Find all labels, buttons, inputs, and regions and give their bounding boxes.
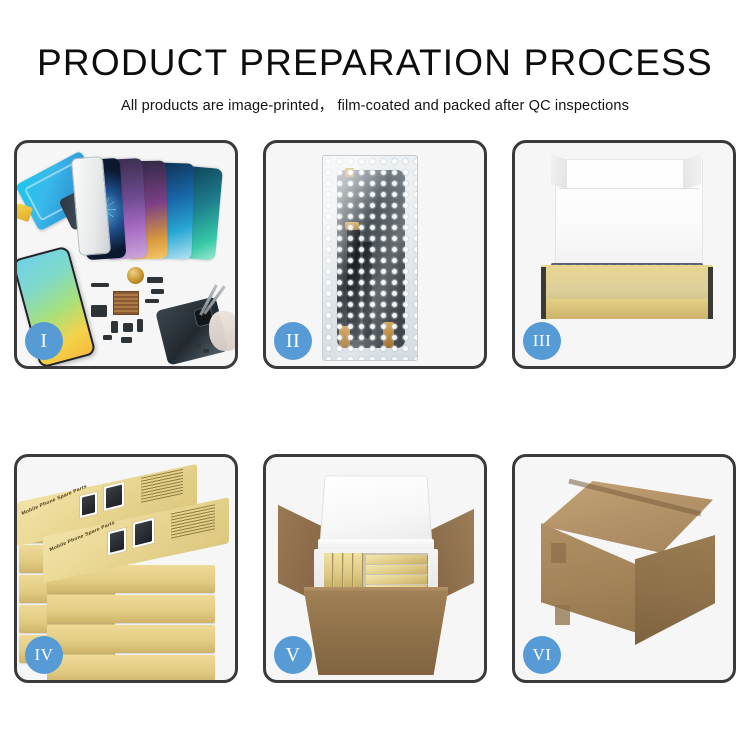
step-badge-5: V	[274, 636, 312, 674]
process-step-panel-2[interactable]: II	[263, 140, 487, 369]
lid-flap-right-icon	[683, 154, 701, 190]
carton-tape-patch	[555, 605, 570, 625]
foam-lid-icon	[319, 475, 432, 548]
retail-box-label-text: Mobile Phone Spare Parts	[21, 484, 87, 517]
part-chip	[137, 319, 143, 332]
retail-box-thumbnail	[79, 491, 98, 520]
retail-box-thumbnail	[132, 517, 155, 550]
retail-box-in-foam	[366, 575, 428, 584]
retail-box	[47, 595, 215, 623]
retail-box	[47, 625, 215, 653]
carton-right-face	[635, 535, 715, 645]
part-chip	[91, 305, 107, 317]
step-badge-4: IV	[25, 636, 63, 674]
step-badge-6: VI	[523, 636, 561, 674]
step-badge-2: II	[274, 322, 312, 360]
retail-box-in-foam	[366, 555, 428, 564]
hand-icon	[209, 311, 235, 351]
retail-box-thumbnail	[107, 527, 127, 557]
part-chip	[121, 337, 132, 343]
part-chip	[193, 343, 201, 347]
process-step-panel-4[interactable]: Mobile Phone Spare Parts Mobile Phone Sp…	[14, 454, 238, 683]
part-chip	[123, 323, 133, 332]
retail-box-spec-lines	[171, 504, 215, 540]
part-chip	[203, 349, 209, 353]
process-step-panel-3[interactable]: III	[512, 140, 736, 369]
part-chip	[103, 335, 112, 340]
retail-box	[47, 655, 215, 680]
carton-tape-patch	[551, 543, 566, 563]
lid-crease-line	[559, 188, 699, 189]
part-chip	[147, 277, 163, 283]
plastic-gloss-overlay	[323, 156, 417, 360]
process-step-grid: I II	[14, 140, 736, 683]
retail-box-in-foam	[366, 565, 428, 574]
lid-flap-left-icon	[551, 154, 567, 189]
process-step-panel-1[interactable]: I	[14, 140, 238, 369]
bubble-wrap-bag-icon	[322, 155, 418, 361]
page-title: PRODUCT PREPARATION PROCESS	[0, 44, 750, 81]
part-chip	[111, 321, 118, 333]
white-foam-lid-icon	[555, 159, 703, 275]
tray-edge-left	[541, 267, 546, 319]
copper-coil-icon	[127, 267, 144, 284]
kraft-tray-front-icon	[541, 299, 713, 319]
step-badge-3: III	[523, 322, 561, 360]
step-badge-1: I	[25, 322, 63, 360]
process-step-panel-6[interactable]: VI	[512, 454, 736, 683]
part-chip	[145, 299, 159, 303]
process-step-panel-5[interactable]: V	[263, 454, 487, 683]
page-subtitle: All products are image-printed， film-coa…	[0, 94, 750, 115]
header: PRODUCT PREPARATION PROCESS All products…	[0, 0, 750, 115]
tray-edge-right	[708, 267, 713, 319]
part-chip	[91, 283, 109, 287]
spare-parts-cluster	[91, 265, 235, 366]
retail-box-spec-lines	[141, 469, 183, 504]
carton-body-icon	[304, 591, 448, 675]
retail-box-thumbnail	[103, 481, 125, 512]
circuit-board-icon	[113, 291, 139, 315]
product-preparation-infographic: PRODUCT PREPARATION PROCESS All products…	[0, 0, 750, 750]
part-chip	[151, 289, 164, 294]
